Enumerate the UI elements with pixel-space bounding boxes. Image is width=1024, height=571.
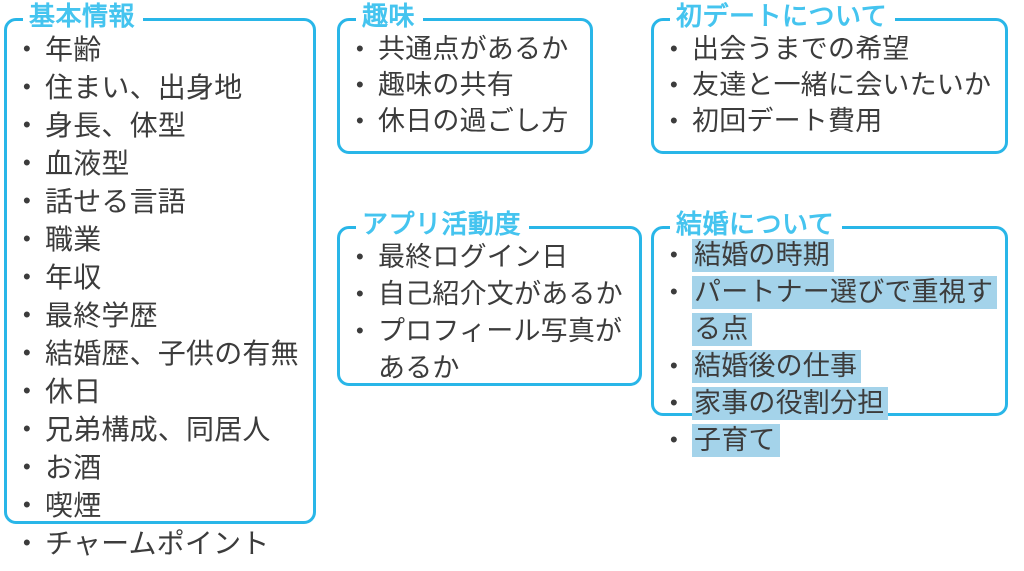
list-item: 共通点があるか — [352, 31, 580, 67]
checklist-canvas: 基本情報 年齢住まい、出身地身長、体型血液型話せる言語職業年収最終学歴結婚歴、子… — [0, 0, 1024, 533]
list-item: 子育て — [666, 422, 995, 459]
list-item-label: 身長、体型 — [45, 110, 186, 141]
list-item: 兄弟構成、同居人 — [19, 411, 303, 449]
list-item: 自己紹介文があるか — [352, 276, 629, 313]
list-item: 職業 — [19, 221, 303, 259]
group-box-first-date: 初デートについて 出会うまでの希望友達と一緒に会いたいか初回デート費用 — [651, 18, 1008, 154]
list-item-label: 最終学歴 — [45, 300, 158, 331]
list-item-label: 結婚歴、子供の有無 — [45, 338, 299, 369]
list-item: 休日の過ごし方 — [352, 103, 580, 139]
group-legend-basic-information: 基本情報 — [23, 1, 143, 31]
list-item: 話せる言語 — [19, 183, 303, 221]
list-item-label: 休日の過ごし方 — [378, 106, 568, 136]
group-item-list-app-activity: 最終ログイン日自己紹介文があるかプロフィール写真があるか — [340, 229, 639, 395]
list-item: 結婚後の仕事 — [666, 348, 995, 385]
list-item-label: 出会うまでの希望 — [692, 34, 910, 64]
list-item: 初回デート費用 — [666, 103, 995, 139]
group-item-list-basic-information: 年齢住まい、出身地身長、体型血液型話せる言語職業年収最終学歴結婚歴、子供の有無休… — [7, 21, 313, 571]
list-item-label: 住まい、出身地 — [45, 72, 242, 103]
list-item: 住まい、出身地 — [19, 69, 303, 107]
list-item-label: 自己紹介文があるか — [378, 279, 623, 309]
list-item-label: 話せる言語 — [45, 186, 186, 217]
list-item-label-highlighted: 家事の役割分担 — [692, 387, 888, 420]
list-item: 年収 — [19, 259, 303, 297]
group-item-list-hobby: 共通点があるか趣味の共有休日の過ごし方 — [340, 21, 590, 147]
list-item: プロフィール写真があるか — [352, 313, 629, 387]
list-item-label: お酒 — [45, 452, 101, 483]
group-item-list-first-date: 出会うまでの希望友達と一緒に会いたいか初回デート費用 — [654, 21, 1005, 147]
list-item-label-highlighted: 結婚後の仕事 — [692, 350, 861, 383]
group-legend-marriage: 結婚について — [670, 209, 842, 239]
list-item-label: 友達と一緒に会いたいか — [692, 70, 991, 100]
list-item: 結婚の時期 — [666, 237, 995, 274]
group-legend-hobby: 趣味 — [356, 1, 423, 31]
list-item-label: 共通点があるか — [378, 34, 568, 64]
list-item: チャームポイント — [19, 525, 303, 563]
list-item-label-highlighted: パートナー選びで重視する点 — [692, 276, 997, 346]
list-item: お酒 — [19, 449, 303, 487]
list-item-label: 趣味の共有 — [378, 70, 514, 100]
list-item: 休日 — [19, 373, 303, 411]
list-item: 趣味の共有 — [352, 67, 580, 103]
list-item-label: 兄弟構成、同居人 — [45, 414, 271, 445]
group-box-hobby: 趣味 共通点があるか趣味の共有休日の過ごし方 — [337, 18, 593, 154]
group-legend-first-date: 初デートについて — [670, 1, 895, 31]
list-item-label: 喫煙 — [45, 490, 101, 521]
list-item: 最終ログイン日 — [352, 239, 629, 276]
group-box-basic-information: 基本情報 年齢住まい、出身地身長、体型血液型話せる言語職業年収最終学歴結婚歴、子… — [4, 18, 316, 524]
list-item-label: 年収 — [45, 262, 101, 293]
group-legend-app-activity: アプリ活動度 — [356, 209, 529, 239]
list-item: 家事の役割分担 — [666, 385, 995, 422]
list-item: 結婚歴、子供の有無 — [19, 335, 303, 373]
list-item-label: プロフィール写真があるか — [378, 316, 622, 383]
list-item-label: 初回デート費用 — [692, 106, 882, 136]
group-box-app-activity: アプリ活動度 最終ログイン日自己紹介文があるかプロフィール写真があるか — [337, 226, 642, 386]
list-item: 最終学歴 — [19, 297, 303, 335]
list-item: パートナー選びで重視する点 — [666, 274, 995, 348]
list-item-label: 血液型 — [45, 148, 130, 179]
list-item-label-highlighted: 結婚の時期 — [692, 239, 834, 272]
list-item: 身長、体型 — [19, 107, 303, 145]
list-item-label: 最終ログイン日 — [378, 242, 568, 272]
list-item: 年齢 — [19, 31, 303, 69]
list-item-label: 年齢 — [45, 34, 101, 65]
list-item-label: 休日 — [45, 376, 101, 407]
group-item-list-marriage: 結婚の時期パートナー選びで重視する点結婚後の仕事家事の役割分担子育て — [654, 229, 1005, 467]
list-item-label: 職業 — [45, 224, 101, 255]
list-item: 血液型 — [19, 145, 303, 183]
group-box-marriage: 結婚について 結婚の時期パートナー選びで重視する点結婚後の仕事家事の役割分担子育… — [651, 226, 1008, 416]
list-item: 出会うまでの希望 — [666, 31, 995, 67]
list-item: 喫煙 — [19, 487, 303, 525]
list-item: 友達と一緒に会いたいか — [666, 67, 995, 103]
list-item-label-highlighted: 子育て — [692, 424, 780, 457]
